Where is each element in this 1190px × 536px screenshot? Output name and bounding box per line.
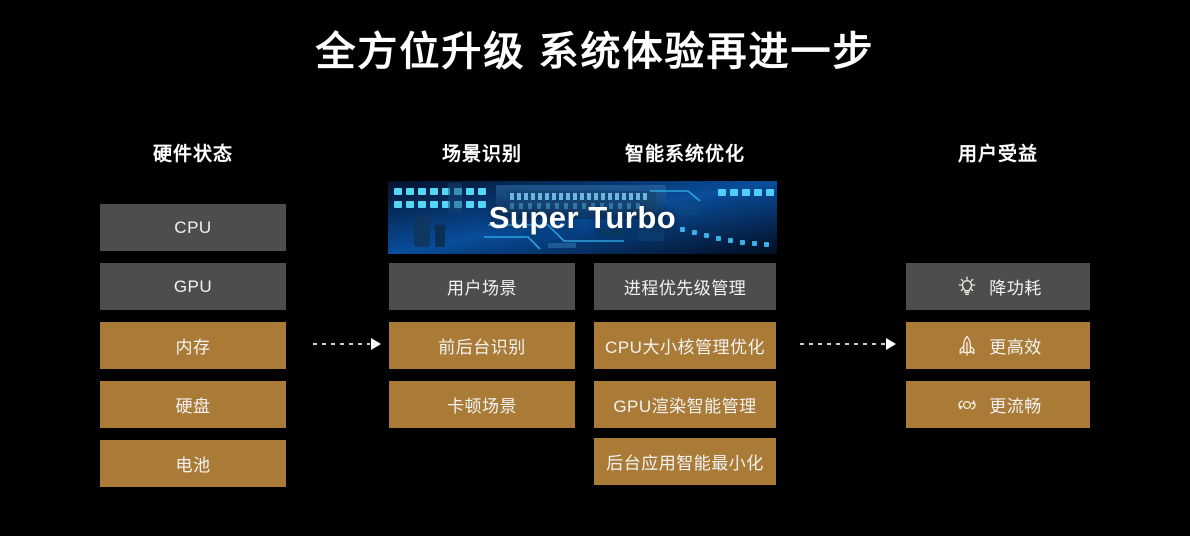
optimize-item-label: GPU渲染智能管理	[613, 392, 756, 417]
benefit-item-more-efficient: 更高效	[906, 322, 1090, 369]
hardware-item-disk: 硬盘	[100, 381, 286, 428]
optimize-item-label: 后台应用智能最小化	[606, 449, 764, 474]
optimize-item-cpu-core: CPU大小核管理优化	[594, 322, 776, 369]
hardware-item-gpu: GPU	[100, 263, 286, 310]
scene-item-label: 前后台识别	[438, 333, 526, 358]
arrow-optimize-to-benefit	[800, 337, 896, 351]
benefit-item-label: 降功耗	[989, 274, 1042, 299]
arrow-line	[800, 343, 885, 345]
column-header-scene: 场景识别	[389, 139, 575, 166]
column-header-benefit: 用户受益	[906, 139, 1090, 166]
arrow-head-icon	[371, 338, 381, 350]
optimize-item-label: 进程优先级管理	[624, 274, 747, 299]
optimize-item-gpu-render: GPU渲染智能管理	[594, 381, 776, 428]
scene-item-user-scene: 用户场景	[389, 263, 575, 310]
scene-item-foreground-background: 前后台识别	[389, 322, 575, 369]
arrow-hardware-to-scene	[313, 337, 381, 351]
hardware-item-battery: 电池	[100, 440, 286, 487]
hardware-item-label: 内存	[176, 333, 211, 358]
benefit-item-lower-power: 降功耗	[906, 263, 1090, 310]
page-title: 全方位升级 系统体验再进一步	[0, 28, 1190, 76]
optimize-item-background-minimize: 后台应用智能最小化	[594, 438, 776, 485]
arrow-head-icon	[886, 338, 896, 350]
refresh-cycle-icon	[954, 392, 980, 418]
rocket-icon	[954, 333, 980, 359]
benefit-item-more-smooth: 更流畅	[906, 381, 1090, 428]
scene-item-lag-scene: 卡顿场景	[389, 381, 575, 428]
hardware-item-label: GPU	[174, 277, 212, 297]
optimize-item-label: CPU大小核管理优化	[605, 333, 765, 358]
scene-item-label: 用户场景	[447, 274, 517, 299]
hardware-item-label: 硬盘	[176, 392, 211, 417]
hardware-item-cpu: CPU	[100, 204, 286, 251]
hardware-item-label: 电池	[176, 451, 211, 476]
column-header-optimize: 智能系统优化	[594, 139, 776, 166]
scene-item-label: 卡顿场景	[447, 392, 517, 417]
benefit-item-label: 更高效	[989, 333, 1042, 358]
banner-title: Super Turbo	[388, 181, 777, 254]
hardware-item-label: CPU	[174, 218, 211, 238]
column-header-hardware: 硬件状态	[100, 139, 286, 166]
benefit-item-label: 更流畅	[989, 392, 1042, 417]
lightbulb-icon	[954, 274, 980, 300]
optimize-item-process-priority: 进程优先级管理	[594, 263, 776, 310]
hardware-item-memory: 内存	[100, 322, 286, 369]
arrow-line	[313, 343, 370, 345]
super-turbo-banner: Super Turbo	[388, 181, 777, 254]
